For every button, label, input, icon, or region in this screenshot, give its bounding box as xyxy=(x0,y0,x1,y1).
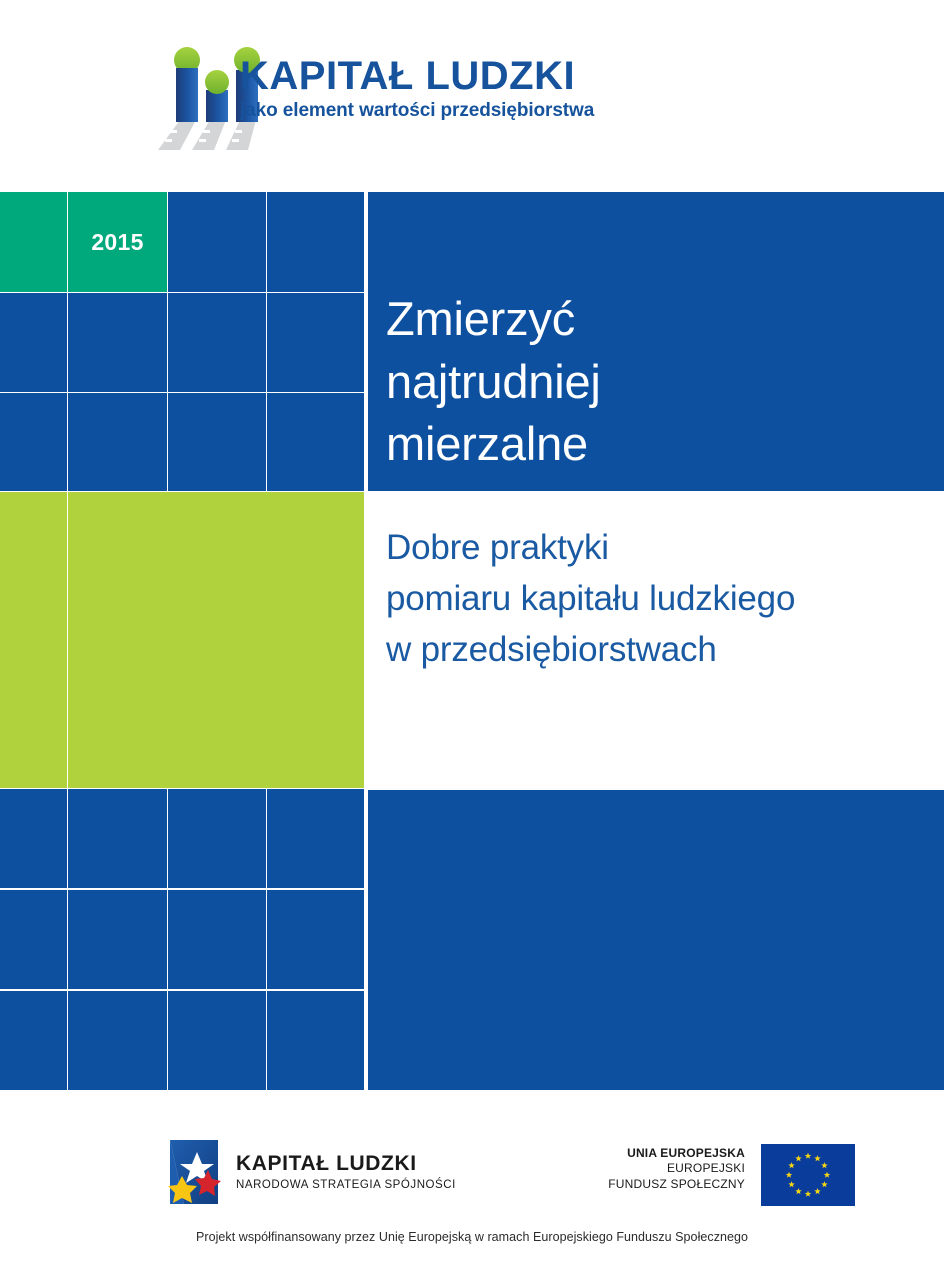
cover-title-line-2: najtrudniej xyxy=(386,351,926,414)
grid-cell-r3c2 xyxy=(68,393,167,491)
grid-cell-r4c1 xyxy=(0,789,67,888)
top-logo: KAPITAŁ LUDZKI jako element wartości prz… xyxy=(158,38,678,150)
eu-logo-line-2: EUROPEJSKI xyxy=(608,1161,745,1176)
grid-cell-r3c3 xyxy=(168,393,266,491)
bottom-panel-background xyxy=(368,790,944,1090)
three-stars-emblem-icon xyxy=(162,1134,226,1210)
grid-cell-r5c3 xyxy=(168,890,266,989)
kapital-ludzki-footer-text: KAPITAŁ LUDZKI NARODOWA STRATEGIA SPÓJNO… xyxy=(236,1152,456,1191)
grid-cell-r5c2 xyxy=(68,890,167,989)
cover-title-line-3: mierzalne xyxy=(386,413,926,476)
grid-cell-r5c4 xyxy=(267,890,364,989)
cover-subtitle-line-2: pomiaru kapitału ludzkiego xyxy=(386,574,931,625)
grid-cell-r6c1 xyxy=(0,991,67,1090)
lime-panel-col1 xyxy=(0,492,67,788)
kl-footer-line-2: NARODOWA STRATEGIA SPÓJNOŚCI xyxy=(236,1179,456,1191)
cover-title-line-1: Zmierzyć xyxy=(386,288,926,351)
eu-logo-text: UNIA EUROPEJSKA EUROPEJSKI FUNDUSZ SPOŁE… xyxy=(608,1146,745,1192)
footer-caption: Projekt współfinansowany przez Unię Euro… xyxy=(0,1230,944,1244)
grid-cell-r5c1 xyxy=(0,890,67,989)
top-logo-title: KAPITAŁ LUDZKI xyxy=(240,56,680,96)
grid-cell-r6c3 xyxy=(168,991,266,1090)
top-logo-text: KAPITAŁ LUDZKI jako element wartości prz… xyxy=(240,56,680,122)
kl-footer-line-1: KAPITAŁ LUDZKI xyxy=(236,1152,456,1176)
cover-subtitle-line-1: Dobre praktyki xyxy=(386,523,931,574)
lime-panel-main xyxy=(68,492,364,788)
eu-flag-twelve-stars-icon xyxy=(761,1144,855,1206)
kapital-ludzki-footer-logo: KAPITAŁ LUDZKI NARODOWA STRATEGIA SPÓJNO… xyxy=(162,1134,412,1210)
grid-cell-r2c3 xyxy=(168,293,266,392)
top-logo-subtitle: jako element wartości przedsiębiorstwa xyxy=(240,100,680,122)
cover-subtitle-line-3: w przedsiębiorstwach xyxy=(386,625,931,676)
grid-cell-r2c2 xyxy=(68,293,167,392)
grid-cell-r2c1 xyxy=(0,293,67,392)
eu-logo: UNIA EUROPEJSKA EUROPEJSKI FUNDUSZ SPOŁE… xyxy=(665,1144,855,1202)
cover-title: Zmierzyć najtrudniej mierzalne xyxy=(386,288,926,476)
footer-logo-bar: KAPITAŁ LUDZKI NARODOWA STRATEGIA SPÓJNO… xyxy=(0,1132,944,1216)
eu-logo-line-1: UNIA EUROPEJSKA xyxy=(608,1146,745,1161)
grid-cell-r2c4 xyxy=(267,293,364,392)
grid-cell-r4c3 xyxy=(168,789,266,888)
grid-cell-r1c3 xyxy=(168,192,266,292)
grid-cell-r4c4 xyxy=(267,789,364,888)
grid-cell-r3c1 xyxy=(0,393,67,491)
grid-cell-r4c2 xyxy=(68,789,167,888)
grid-cell-r6c2 xyxy=(68,991,167,1090)
eu-logo-line-3: FUNDUSZ SPOŁECZNY xyxy=(608,1177,745,1192)
cover-subtitle: Dobre praktyki pomiaru kapitału ludzkieg… xyxy=(386,523,931,675)
grid-cell-r3c4 xyxy=(267,393,364,491)
grid-cell-r1c4 xyxy=(267,192,364,292)
year-badge: 2015 xyxy=(68,192,167,292)
grid-cell-r1c1 xyxy=(0,192,67,292)
grid-cell-r6c4 xyxy=(267,991,364,1090)
